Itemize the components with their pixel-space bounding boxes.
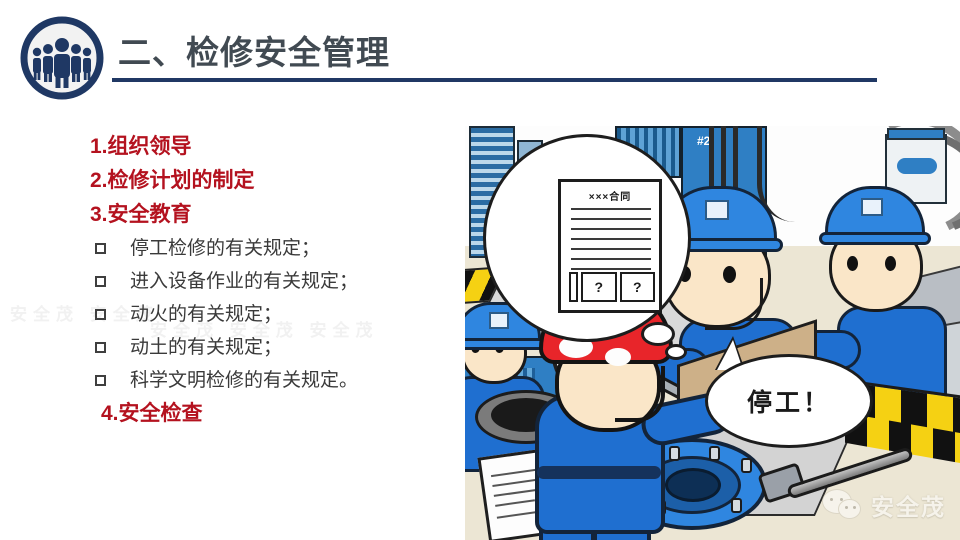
helmet-brim bbox=[819, 232, 931, 245]
list-item-label: 动土的有关规定； bbox=[130, 331, 282, 364]
wechat-icon bbox=[822, 489, 862, 521]
signature-box: ? bbox=[581, 272, 617, 302]
outline-item-4: 4.安全检查 bbox=[90, 397, 450, 431]
hollow-square-bullet-icon bbox=[95, 342, 106, 353]
list-item-label: 动火的有关规定； bbox=[130, 298, 282, 331]
flange-bolt bbox=[741, 458, 752, 473]
content-outline: 1.组织领导 2.检修计划的制定 3.安全教育 停工检修的有关规定； 进入设备作… bbox=[90, 130, 450, 431]
list-item-label: 科学文明检修的有关规定。 bbox=[130, 364, 358, 397]
signature-box: ? bbox=[620, 272, 656, 302]
contract-document: ×××合同 ? ? bbox=[558, 179, 662, 313]
blue-flange-center bbox=[665, 468, 721, 502]
hollow-square-bullet-icon bbox=[95, 375, 106, 386]
thought-bubble-dot bbox=[665, 344, 687, 360]
worker-eye bbox=[885, 256, 896, 271]
flange-bolt bbox=[669, 446, 680, 461]
cabinet-top-panel bbox=[887, 128, 945, 140]
thought-bubble: ×××合同 ? ? bbox=[483, 134, 691, 342]
slide-header: 二、检修安全管理 bbox=[0, 0, 960, 110]
thought-bubble-dot bbox=[641, 322, 675, 346]
hollow-square-bullet-icon bbox=[95, 309, 106, 320]
list-item: 停工检修的有关规定； bbox=[90, 232, 450, 265]
list-item: 动土的有关规定； bbox=[90, 331, 450, 364]
people-group-icon bbox=[20, 16, 104, 100]
speech-bubble-text: 停工！ bbox=[747, 383, 831, 419]
list-item: 进入设备作业的有关规定； bbox=[90, 265, 450, 298]
worker-eye bbox=[847, 256, 858, 271]
flange-bolt bbox=[731, 498, 742, 513]
list-item: 科学文明检修的有关规定。 bbox=[90, 364, 450, 397]
list-item-label: 进入设备作业的有关规定； bbox=[130, 265, 358, 298]
header-divider bbox=[112, 78, 877, 82]
worker-belt bbox=[537, 466, 661, 479]
slide-canvas: 二、检修安全管理 安全茂 安全茂 安全茂 安全茂 安全茂 1.组织领导 2.检修… bbox=[0, 0, 960, 540]
helmet-badge bbox=[861, 198, 883, 216]
brand-watermark: 安全茂 bbox=[822, 488, 946, 522]
hollow-square-bullet-icon bbox=[95, 276, 106, 287]
maintenance-safety-illustration: #2 bbox=[465, 126, 960, 540]
signature-boxes: ? ? bbox=[569, 272, 655, 302]
speech-bubble: 停工！ bbox=[705, 354, 873, 448]
contract-title: ×××合同 bbox=[561, 188, 659, 203]
outline-item-1: 1.组织领导 bbox=[90, 130, 450, 164]
brand-watermark-text: 安全茂 bbox=[871, 488, 946, 522]
helmet-badge bbox=[489, 312, 509, 329]
signature-box bbox=[569, 272, 578, 302]
helmet-brim bbox=[465, 338, 545, 350]
list-item-label: 停工检修的有关规定； bbox=[130, 232, 320, 265]
outline-item-3: 3.安全教育 bbox=[90, 198, 450, 232]
outline-item-2: 2.检修计划的制定 bbox=[90, 164, 450, 198]
flange-bolt bbox=[709, 446, 720, 461]
hollow-square-bullet-icon bbox=[95, 243, 106, 254]
helmet-highlight bbox=[605, 348, 631, 366]
cabinet-label-plate bbox=[897, 158, 937, 174]
page-title: 二、检修安全管理 bbox=[118, 26, 390, 74]
helmet-badge bbox=[705, 200, 729, 220]
list-item: 动火的有关规定； bbox=[90, 298, 450, 331]
